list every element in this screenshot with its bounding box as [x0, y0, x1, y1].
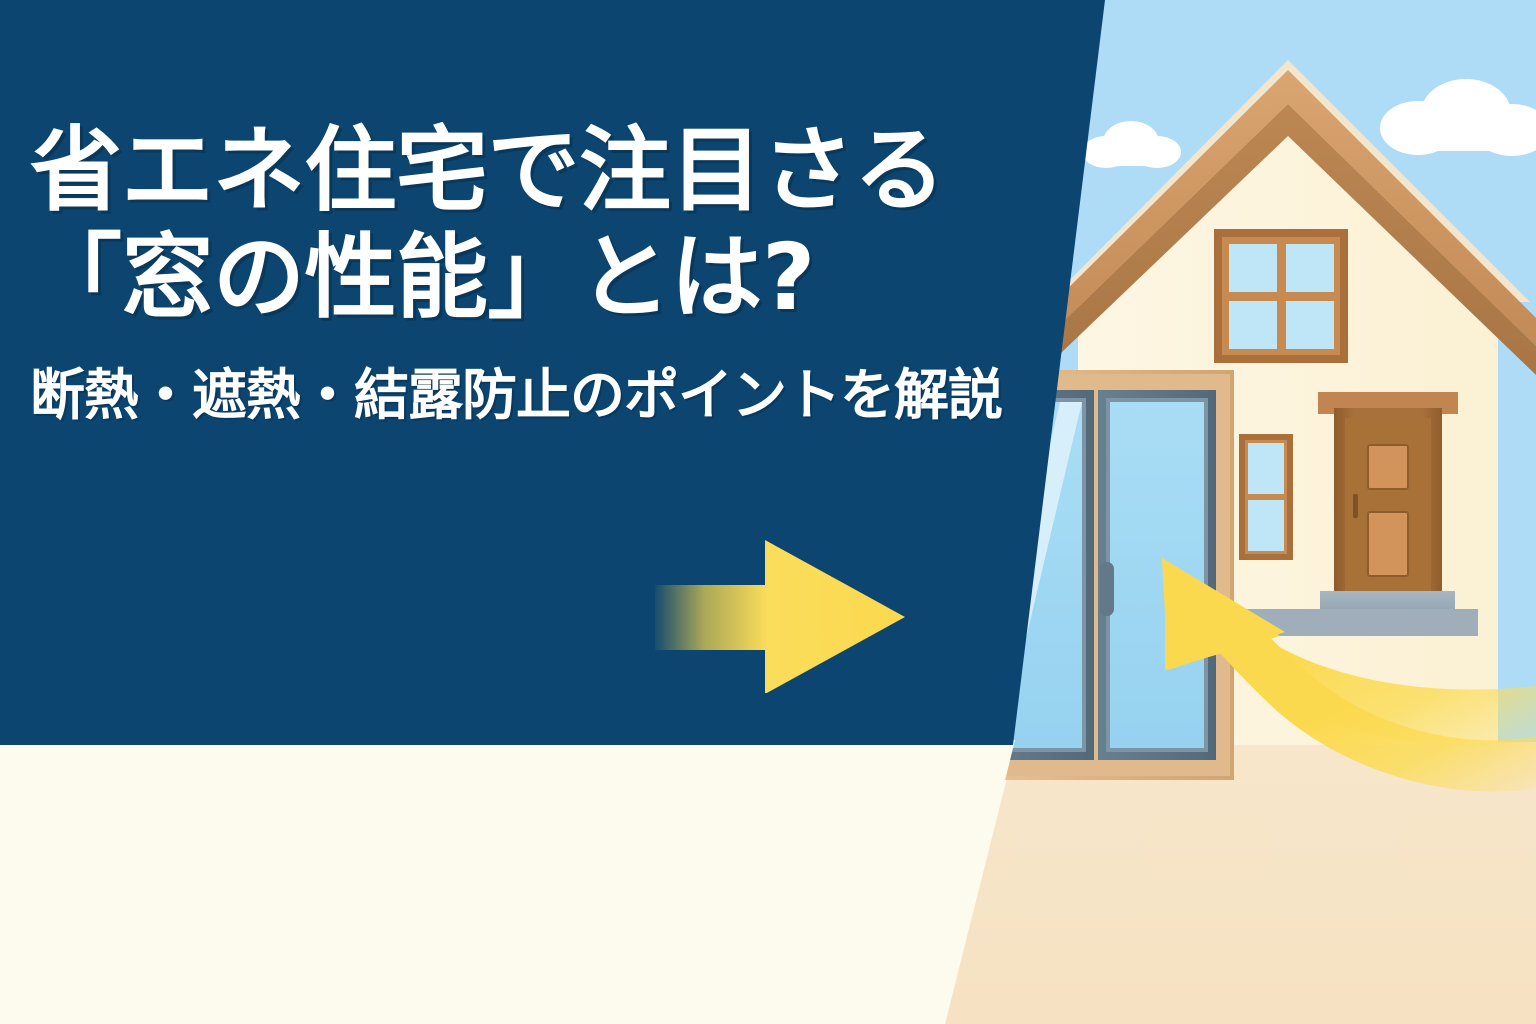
- page-title-line-1: 省エネ住宅で注目さる: [30, 118, 1040, 225]
- thumbnail-canvas: 省エネ住宅で注目さる 「窓の性能」とは? 断熱・遮熱・結露防止のポイントを解説: [0, 0, 1536, 1024]
- page-subtitle: 断熱・遮熱・結露防止のポイントを解説: [30, 365, 1040, 426]
- arrow-right-icon: [655, 540, 905, 693]
- curved-arrow-overlay: [1100, 540, 1536, 830]
- title-block: 省エネ住宅で注目さる 「窓の性能」とは? 断熱・遮熱・結露防止のポイントを解説: [30, 118, 1040, 426]
- page-title-line-2: 「窓の性能」とは?: [30, 225, 1040, 332]
- straight-arrow-overlay: [655, 533, 910, 693]
- upper-window: [1214, 229, 1348, 363]
- bottom-cream-panel: [0, 740, 1100, 1024]
